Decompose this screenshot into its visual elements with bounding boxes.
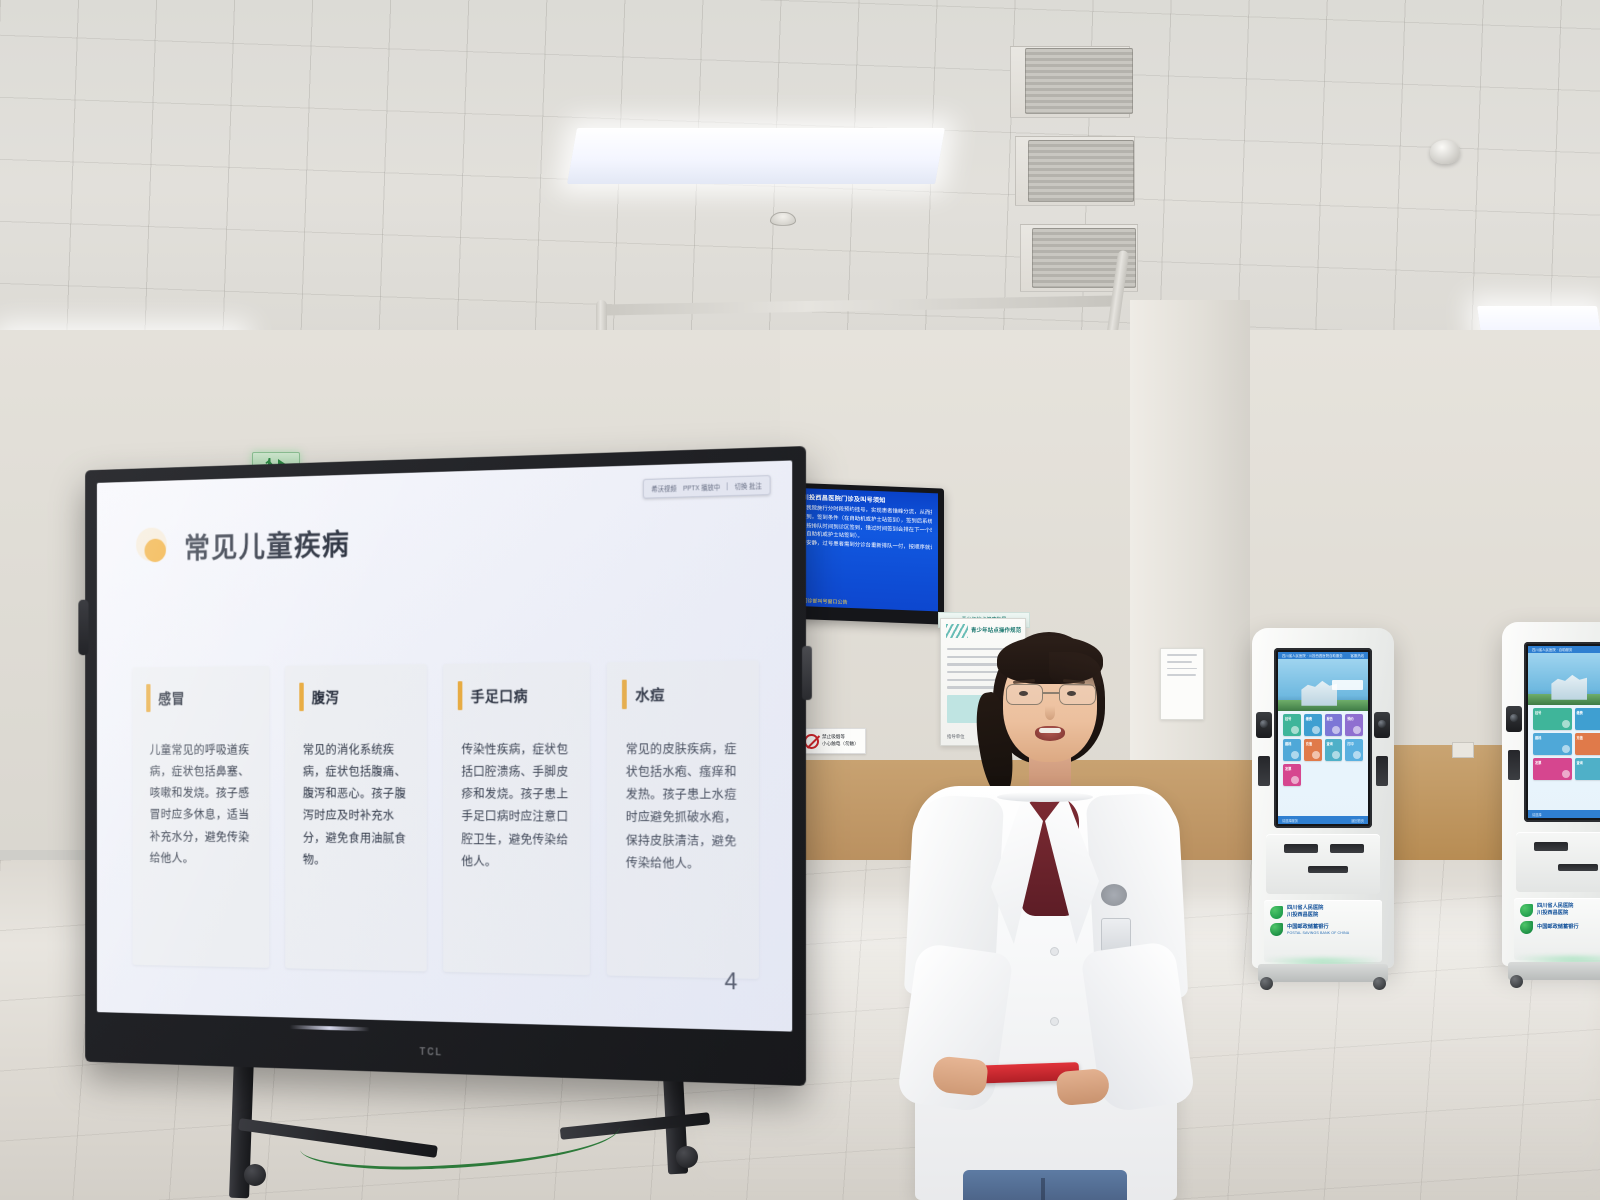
card-title: 手足口病 — [471, 684, 528, 706]
kiosk-tile[interactable]: 打印 — [1345, 739, 1363, 761]
toolbar-app-label: 希沃视频 — [651, 483, 676, 494]
cash-slot[interactable] — [1558, 864, 1598, 871]
id-card-reader-icon[interactable] — [1256, 712, 1272, 738]
kiosk-tile[interactable]: 报告 — [1325, 714, 1343, 736]
card-slot[interactable] — [1376, 756, 1388, 786]
glasses-bridge — [1043, 692, 1059, 694]
card-slot[interactable] — [1508, 750, 1520, 780]
kiosk-tile[interactable]: 挂号 — [1283, 714, 1301, 736]
kiosk-tile-label: 充值 — [1577, 735, 1583, 740]
toolbar-annotate-button[interactable]: 切换 批注 — [735, 480, 762, 491]
receipt-slot[interactable] — [1534, 842, 1568, 851]
kiosk-branding-plate: 四川省人民医院 川投西昌医院 中国邮政储蓄银行 — [1514, 898, 1600, 960]
kiosk-tile-label: 报告 — [1327, 716, 1333, 721]
kiosk-dispenser-panel — [1266, 834, 1380, 894]
kiosk-caster — [1373, 977, 1386, 990]
coat-collar — [997, 792, 1093, 802]
kiosk-tile-label: 发票 — [1535, 760, 1541, 765]
kiosk-topbar-left: 四川省人民医院 · 自助服务 — [1532, 647, 1572, 652]
receipt-slot[interactable] — [1330, 844, 1364, 853]
kiosk-service-grid: 挂号 缴费 报告 预约 建档 充值 查询 打印 发票 — [1283, 714, 1363, 786]
kiosk-tile[interactable]: 查询 — [1325, 739, 1343, 761]
kiosk-tile[interactable]: 预约 — [1345, 714, 1363, 736]
hero-building — [1551, 673, 1587, 700]
kiosk-tile[interactable]: 挂号 — [1533, 708, 1572, 730]
cash-slot[interactable] — [1308, 866, 1348, 873]
card-accent-bar — [622, 680, 627, 709]
kiosk-tile[interactable]: 充值 — [1304, 739, 1322, 761]
hospital-name-2: 川投西昌医院 — [1287, 912, 1323, 919]
ceiling-vent — [1025, 48, 1133, 114]
card-header: 感冒 — [146, 687, 257, 712]
hospital-name-2: 川投西昌医院 — [1537, 910, 1573, 917]
card-title: 腹泻 — [312, 686, 340, 707]
smoke-detector-icon — [770, 212, 796, 226]
card-accent-bar — [146, 684, 150, 712]
hospital-logo-row: 四川省人民医院 川投西昌医院 — [1520, 903, 1600, 917]
kiosk-tile[interactable]: 缴费 — [1575, 708, 1600, 730]
ceiling-vent — [1028, 140, 1134, 202]
kiosk-botbar-left: 请选择服务 — [1282, 818, 1298, 823]
toolbar-status-label: PPTX 播放中 — [683, 482, 720, 493]
prohibition-icon — [804, 734, 819, 749]
hair-fringe — [997, 636, 1103, 684]
jeans-seam — [1041, 1178, 1045, 1200]
kiosk-tile-label: 建档 — [1535, 735, 1541, 740]
bank-logo-row: 中国邮政储蓄银行 POSTAL SAVINGS BANK OF CHINA — [1270, 923, 1376, 936]
kiosk-tile-label: 充值 — [1306, 741, 1312, 746]
bank-name: 中国邮政储蓄银行 — [1287, 924, 1349, 931]
warning-text: 禁止吸烟等 小心触电（勿触） — [822, 734, 859, 747]
kiosk-base — [1258, 964, 1388, 982]
kiosk-botbar-right: 返回首页 — [1351, 818, 1364, 823]
coat-button — [1051, 948, 1058, 955]
kiosk-screen-frame: 四川省人民医院 · 川投西昌医院自助服务 客服热线 挂号 缴费 报告 预约 建档… — [1274, 648, 1372, 828]
hospital-leaf-icon — [1270, 906, 1283, 919]
nose — [1045, 706, 1055, 720]
kiosk-tile-label: 缴费 — [1306, 716, 1312, 721]
mouth — [1035, 726, 1065, 741]
kiosk-hero-image — [1528, 653, 1600, 705]
kiosk-tile-label: 缴费 — [1577, 710, 1583, 715]
card-header: 水痘 — [622, 683, 745, 710]
kiosk-caster — [1510, 975, 1523, 988]
presentation-toolbar[interactable]: 希沃视频 PPTX 播放中 切换 批注 — [643, 475, 771, 499]
card-accent-bar — [458, 681, 463, 710]
kiosk-tile[interactable]: 缴费 — [1304, 714, 1322, 736]
postal-bank-icon — [1270, 923, 1283, 936]
slide-header: 常见儿童疾病 — [136, 520, 350, 567]
kiosk-tile-label: 挂号 — [1285, 716, 1291, 721]
title-bullet-icon — [136, 527, 170, 565]
disease-card: 感冒 儿童常见的呼吸道疾病，症状包括鼻塞、咳嗽和发烧。孩子感冒时应多休息，适当补… — [133, 666, 270, 968]
kiosk-screen-frame: 四川省人民医院 · 自助服务 客服 挂号 缴费 建档 充值 发票 查询 请选择 — [1524, 642, 1600, 822]
card-slot[interactable] — [1258, 756, 1270, 786]
kiosk-dispenser-panel — [1516, 832, 1600, 892]
kiosk-tile[interactable]: 查询 — [1575, 758, 1600, 780]
hero-label — [1332, 680, 1363, 690]
presenting-doctor — [905, 618, 1185, 1200]
kiosk-tile[interactable]: 发票 — [1533, 758, 1572, 780]
kiosk-tile-label: 预约 — [1347, 716, 1353, 721]
kiosk-bottombar: 请选择服务 返回首页 — [1278, 816, 1368, 824]
tv-title-main: 川投西昌医院门诊及叫号须知 — [803, 494, 886, 504]
warning-line-2: 小心触电（勿触） — [822, 741, 859, 748]
warning-line-1: 禁止吸烟等 — [822, 734, 859, 741]
kiosk-tile-label: 挂号 — [1535, 710, 1541, 715]
kiosk-hero-image — [1278, 659, 1368, 711]
interactive-whiteboard[interactable]: TCL 常见儿童疾病 感冒 儿童常见的呼吸道 — [85, 446, 806, 1086]
display-handle — [78, 600, 88, 656]
hospital-name: 四川省人民医院 — [1287, 905, 1323, 912]
card-body: 传染性疾病，症状包括口腔溃疡、手脚皮疹和发烧。孩子患上手足口病时应注意口腔卫生，… — [461, 739, 576, 874]
bank-logo-row: 中国邮政储蓄银行 — [1520, 921, 1600, 934]
kiosk-topbar-right: 客服热线 — [1350, 653, 1364, 658]
disease-card: 水痘 常见的皮肤疾病，症状包括水疱、瘙痒和发热。孩子患上水痘时应避免抓破水疱，保… — [607, 661, 759, 979]
kiosk-caster — [1260, 977, 1273, 990]
slide-title: 常见儿童疾病 — [184, 520, 350, 566]
bank-name: 中国邮政储蓄银行 — [1537, 924, 1579, 931]
kiosk-tile-label: 建档 — [1285, 741, 1291, 746]
kiosk-service-grid: 挂号 缴费 建档 充值 发票 查询 — [1533, 708, 1600, 780]
card-accent-bar — [299, 683, 303, 711]
eyeglasses-icon — [1005, 684, 1097, 706]
postal-bank-icon — [1520, 921, 1533, 934]
hospital-leaf-icon — [1520, 904, 1533, 917]
kiosk-branding-plate: 四川省人民医院 川投西昌医院 中国邮政储蓄银行 POSTAL SAVINGS B… — [1264, 900, 1382, 962]
kiosk-tile[interactable]: 发票 — [1283, 764, 1301, 786]
display-stand-wheel — [244, 1164, 266, 1186]
presentation-slide[interactable]: 常见儿童疾病 感冒 儿童常见的呼吸道疾病，症状包括鼻塞、咳嗽和发烧。孩子感冒时应… — [97, 460, 792, 1031]
ceiling-light — [567, 128, 945, 184]
toolbar-separator — [727, 482, 728, 490]
warning-sign-no-smoking: 禁止吸烟等 小心触电（勿触） — [800, 728, 866, 754]
card-title: 感冒 — [158, 688, 185, 709]
kiosk-tile[interactable]: 建档 — [1533, 733, 1572, 755]
kiosk-touchscreen[interactable]: 四川省人民医院 · 自助服务 客服 挂号 缴费 建档 充值 发票 查询 请选择 — [1528, 646, 1600, 818]
kiosk-touchscreen[interactable]: 四川省人民医院 · 川投西昌医院自助服务 客服热线 挂号 缴费 报告 预约 建档… — [1278, 652, 1368, 824]
card-body: 常见的皮肤疾病，症状包括水疱、瘙痒和发热。孩子患上水痘时应避免抓破水疱，保持皮肤… — [626, 738, 745, 876]
card-body: 常见的消化系统疾病，症状包括腹痛、腹泻和恶心。孩子腹泻时应及时补充水分，避免食用… — [303, 739, 414, 872]
title-bullet-dot — [145, 538, 166, 562]
disease-card-list: 感冒 儿童常见的呼吸道疾病，症状包括鼻塞、咳嗽和发烧。孩子感冒时应多休息，适当补… — [133, 661, 759, 979]
kiosk-topbar-left: 四川省人民医院 · 川投西昌医院自助服务 — [1282, 653, 1343, 658]
receipt-slot[interactable] — [1284, 844, 1318, 853]
self-service-kiosk-1[interactable]: 四川省人民医院 · 川投西昌医院自助服务 客服热线 挂号 缴费 报告 预约 建档… — [1252, 628, 1394, 968]
kiosk-topbar: 四川省人民医院 · 自助服务 客服 — [1528, 646, 1600, 653]
hospital-lobby-scene: 【温馨提示】川投西昌医院门诊及叫号须知 一、为减少患者就诊在院等候时间，我院施行… — [0, 0, 1600, 1200]
slide-page-number: 4 — [724, 968, 737, 996]
id-card-reader-icon[interactable] — [1506, 706, 1522, 732]
hospital-name: 四川省人民医院 — [1537, 903, 1573, 910]
kiosk-tile[interactable]: 充值 — [1575, 733, 1600, 755]
coat-embroidery — [1101, 884, 1127, 906]
display-power-button[interactable] — [802, 646, 812, 700]
jeans — [963, 1170, 1127, 1200]
wall-outlet-plate — [1452, 742, 1474, 758]
card-header: 手足口病 — [458, 684, 577, 710]
bank-name-en: POSTAL SAVINGS BANK OF CHINA — [1287, 931, 1349, 935]
display-stand-wheel — [676, 1146, 698, 1168]
id-card-reader-icon[interactable] — [1374, 712, 1390, 738]
disease-card: 手足口病 传染性疾病，症状包括口腔溃疡、手脚皮疹和发烧。孩子患上手足口病时应注意… — [443, 662, 590, 975]
kiosk-bottombar: 请选择 首页 — [1528, 810, 1600, 818]
kiosk-tile-label: 查询 — [1577, 760, 1583, 765]
security-camera-icon — [1430, 140, 1460, 164]
display-brand-label: TCL — [420, 1047, 443, 1058]
glasses-lens — [1006, 684, 1043, 705]
kiosk-botbar-left: 请选择 — [1532, 812, 1542, 817]
coat-button — [1051, 1018, 1058, 1025]
card-title: 水痘 — [635, 683, 665, 705]
kiosk-tile[interactable]: 建档 — [1283, 739, 1301, 761]
kiosk-topbar: 四川省人民医院 · 川投西昌医院自助服务 客服热线 — [1278, 652, 1368, 659]
kiosk-tile-label: 打印 — [1347, 741, 1353, 746]
card-body: 儿童常见的呼吸道疾病，症状包括鼻塞、咳嗽和发烧。孩子感冒时应多休息，适当补充水分… — [150, 740, 257, 871]
display-screen[interactable]: 常见儿童疾病 感冒 儿童常见的呼吸道疾病，症状包括鼻塞、咳嗽和发烧。孩子感冒时应… — [97, 460, 792, 1031]
card-header: 腹泻 — [299, 685, 414, 711]
kiosk-tile-label: 查询 — [1327, 741, 1333, 746]
self-service-kiosk-2[interactable]: 四川省人民医院 · 自助服务 客服 挂号 缴费 建档 充值 发票 查询 请选择 — [1502, 622, 1600, 966]
glasses-lens — [1059, 684, 1096, 705]
disease-card: 腹泻 常见的消化系统疾病，症状包括腹痛、腹泻和恶心。孩子腹泻时应及时补充水分，避… — [285, 664, 427, 971]
hospital-logo-row: 四川省人民医院 川投西昌医院 — [1270, 905, 1376, 919]
kiosk-tile-label: 发票 — [1285, 766, 1291, 771]
